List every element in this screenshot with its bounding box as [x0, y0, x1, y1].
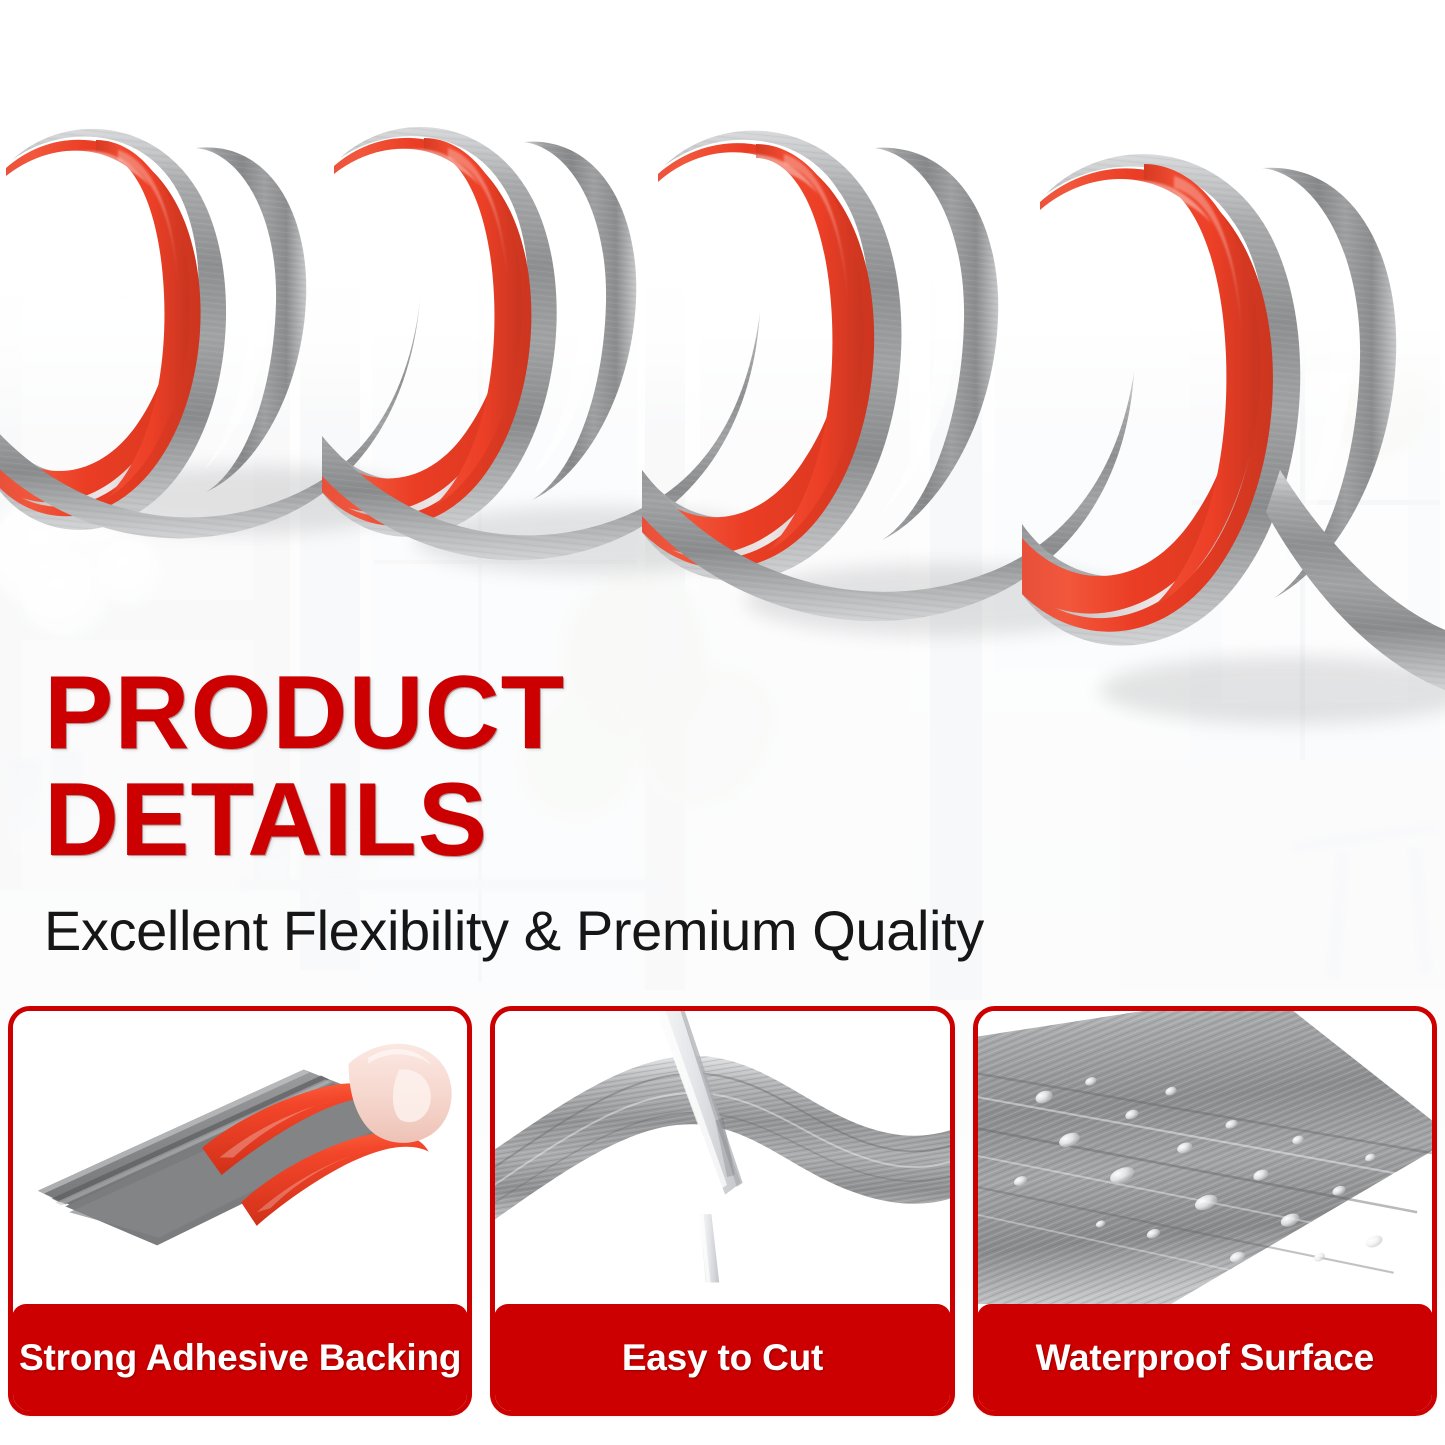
- peel-adhesive-icon: [13, 1011, 467, 1304]
- product-details-infographic: PRODUCT DETAILS Excellent Flexibility & …: [0, 0, 1445, 1445]
- page-title: PRODUCT DETAILS: [44, 662, 1144, 872]
- feature-panel-adhesive[interactable]: Strong Adhesive Backing: [8, 1006, 472, 1416]
- feature-caption-waterproof: Waterproof Surface: [977, 1304, 1433, 1412]
- feature-panel-row: Strong Adhesive Backing: [8, 1006, 1437, 1416]
- page-subtitle: Excellent Flexibility & Premium Quality: [44, 900, 984, 962]
- feature-caption-adhesive: Strong Adhesive Backing: [12, 1304, 468, 1412]
- coil-loop-4: [1022, 154, 1445, 690]
- feature-panel-waterproof[interactable]: Waterproof Surface: [973, 1006, 1437, 1416]
- coil-loop-2: [322, 127, 636, 537]
- feature-panel-cut[interactable]: Easy to Cut: [490, 1006, 954, 1416]
- scissors-cut-icon: [495, 1011, 949, 1304]
- headline-line-1: PRODUCT: [44, 662, 1144, 765]
- water-droplets-icon: [978, 1011, 1432, 1304]
- feature-caption-cut: Easy to Cut: [494, 1304, 950, 1412]
- coil-loop-3: [642, 131, 998, 582]
- headline-line-2: DETAILS: [44, 769, 1144, 872]
